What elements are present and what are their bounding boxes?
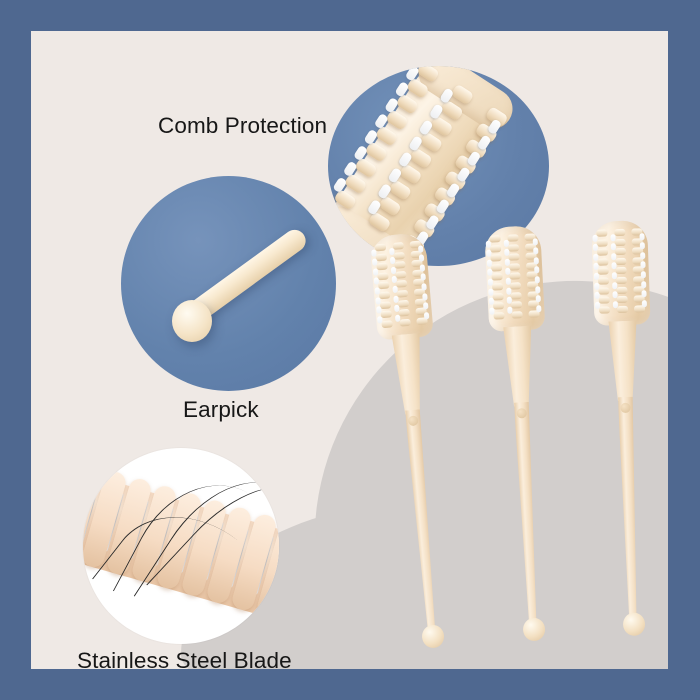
- stick-head-tooth: [508, 263, 519, 271]
- stick-head-tooth: [598, 268, 609, 275]
- stick-head-blade-slot: [389, 257, 395, 264]
- stick-head-blade-slot: [489, 298, 494, 305]
- stick-head-blade-slot: [374, 287, 380, 294]
- stick-head-blade-slot: [394, 314, 400, 321]
- comb-blade-slot: [343, 161, 358, 178]
- stick-head-tooth: [598, 287, 609, 294]
- stick-head-tooth: [399, 319, 411, 327]
- stick-head-tooth: [381, 320, 393, 328]
- stick-head-tooth: [396, 290, 408, 298]
- label-stainless-steel-blade: Stainless Steel Blade: [77, 648, 292, 669]
- stick-head-blade-slot: [391, 276, 397, 283]
- stick-head-blade-slot: [534, 257, 539, 264]
- callout-circle-earpick: [121, 176, 336, 391]
- stick-head-tooth: [614, 229, 625, 236]
- stick-head-blade-slot: [420, 274, 426, 281]
- stick-head-tooth: [616, 286, 627, 293]
- stick-head-blade-slot: [488, 288, 493, 295]
- stick-head-blade-slot: [640, 242, 645, 249]
- stick-head-blade-slot: [390, 267, 396, 274]
- stick-head-tooth: [510, 292, 521, 300]
- stick-head-blade-slot: [640, 252, 645, 259]
- stick-head-blade-slot: [642, 300, 647, 307]
- stick-head-tooth: [509, 282, 520, 290]
- stick-head-blade-slot: [612, 301, 617, 308]
- stick-head-tooth: [614, 238, 625, 245]
- stick-head-blade-slot: [420, 264, 426, 271]
- stick-head-tooth: [491, 273, 502, 281]
- stick-head-blade-slot: [507, 306, 512, 313]
- stick-head-blade-slot: [505, 268, 510, 275]
- stick-head-tooth: [493, 302, 504, 310]
- stick-head-blade-slot: [594, 273, 599, 280]
- stick-head-column: [410, 241, 428, 328]
- stick-head-tooth: [597, 249, 608, 256]
- stick-head-tooth: [397, 299, 409, 307]
- stick-head-tooth: [507, 244, 518, 252]
- stick-head-blade-slot: [593, 253, 598, 260]
- stick-head-column: [392, 242, 410, 329]
- stick-comb-head: [591, 220, 651, 326]
- stick-head-blade-slot: [611, 253, 616, 260]
- stick-head-tooth: [511, 311, 522, 319]
- stick-head-blade-slot: [641, 290, 646, 297]
- stick-head-blade-slot: [593, 244, 598, 251]
- stick-head-blade-slot: [394, 305, 400, 312]
- stick-head-blade-slot: [505, 278, 510, 285]
- stick-head-blade-slot: [533, 238, 538, 245]
- stick-head-tooth: [398, 309, 410, 317]
- stick-head-blade-slot: [641, 281, 646, 288]
- callout-circle-stainless-steel-blade: [83, 448, 279, 644]
- stick-head-blade-slot: [422, 293, 428, 300]
- stick-head-tooth: [615, 258, 626, 265]
- stick-head-column: [631, 228, 645, 314]
- stick-head-tooth: [509, 273, 520, 281]
- stick-head-tooth: [508, 253, 519, 261]
- stick-head-blade-slot: [533, 247, 538, 254]
- earpick-scoop-tip: [172, 300, 212, 342]
- stick-head-blade-slot: [611, 262, 616, 269]
- stick-head-tooth: [599, 297, 610, 304]
- stick-head-tooth: [492, 283, 503, 291]
- stick-head-tooth: [375, 244, 387, 252]
- stick-head-tooth: [615, 267, 626, 274]
- infographic-canvas: Comb Protection Earpick Stainless Steel …: [0, 0, 700, 700]
- stick-head-tooth: [393, 252, 405, 260]
- stick-head-blade-slot: [421, 283, 427, 290]
- stick-head-blade-slot: [375, 297, 381, 304]
- stick-head-blade-slot: [486, 250, 491, 257]
- stick-head-tooth: [615, 277, 626, 284]
- stick-head-blade-slot: [610, 234, 615, 241]
- stick-head-blade-slot: [640, 261, 645, 268]
- stick-head-blade-slot: [534, 266, 539, 273]
- stick-head-column: [596, 229, 610, 315]
- stick-head-tooth: [597, 258, 608, 265]
- stick-head-blade-slot: [376, 306, 382, 313]
- stick-head-blade-slot: [372, 258, 378, 265]
- stick-head-blade-slot: [536, 305, 541, 312]
- stick-comb-head: [484, 225, 545, 332]
- stick-head-blade-slot: [612, 282, 617, 289]
- stick-head-blade-slot: [504, 258, 509, 265]
- stick-head-tooth: [378, 282, 390, 290]
- stick-head-column: [614, 229, 628, 315]
- stick-head-blade-slot: [535, 286, 540, 293]
- stick-head-tooth: [616, 296, 627, 303]
- comb-blade-slot: [374, 113, 389, 130]
- stick-head-tooth: [490, 245, 501, 253]
- stick-head-tooth: [377, 272, 389, 280]
- stick-head-blade-slot: [419, 254, 425, 261]
- stick-head-tooth: [596, 229, 607, 236]
- stick-head-blade-slot: [612, 291, 617, 298]
- stick-head-blade-slot: [594, 282, 599, 289]
- stick-head-blade-slot: [639, 233, 644, 240]
- stick-head-blade-slot: [641, 271, 646, 278]
- comb-blade-slot: [332, 177, 347, 194]
- stick-head-blade-slot: [377, 316, 383, 323]
- stick-head-blade-slot: [489, 307, 494, 314]
- stick-head-tooth: [490, 254, 501, 262]
- stick-head-blade-slot: [418, 245, 424, 252]
- stick-head-tooth: [394, 261, 406, 269]
- stick-head-blade-slot: [487, 259, 492, 266]
- stick-head-blade-slot: [611, 272, 616, 279]
- stick-head-blade-slot: [389, 247, 395, 254]
- stick-head-tooth: [381, 311, 393, 319]
- stick-head-blade-slot: [486, 240, 491, 247]
- stick-head-column: [507, 234, 522, 320]
- stick-head-tooth: [489, 235, 500, 243]
- stick-head-tooth: [493, 312, 504, 320]
- stick-head-tooth: [507, 234, 518, 242]
- stick-head-blade-slot: [371, 249, 377, 256]
- stick-head-tooth: [395, 271, 407, 279]
- stick-head-blade-slot: [424, 312, 430, 319]
- stick-comb-head: [369, 232, 434, 340]
- stick-head-blade-slot: [592, 234, 597, 241]
- stick-head-blade-slot: [393, 295, 399, 302]
- stick-head-tooth: [614, 248, 625, 255]
- stick-head-tooth: [599, 306, 610, 313]
- stick-head-blade-slot: [506, 297, 511, 304]
- stick-head-blade-slot: [535, 276, 540, 283]
- stick-head-blade-slot: [373, 268, 379, 275]
- stick-head-tooth: [598, 277, 609, 284]
- stick-head-blade-slot: [595, 301, 600, 308]
- stick-head-column: [524, 233, 539, 319]
- stick-head-blade-slot: [594, 292, 599, 299]
- stick-head-tooth: [597, 239, 608, 246]
- inner-content-panel: Comb Protection Earpick Stainless Steel …: [31, 31, 668, 669]
- stick-head-blade-slot: [488, 279, 493, 286]
- stick-head-tooth: [392, 242, 404, 250]
- stick-head-blade-slot: [392, 286, 398, 293]
- stick-head-blade-slot: [423, 302, 429, 309]
- stick-head-blade-slot: [503, 239, 508, 246]
- label-comb-protection: Comb Protection: [158, 113, 327, 139]
- comb-blade-slot: [405, 66, 420, 82]
- stick-head-tooth: [395, 280, 407, 288]
- stick-head-tooth: [376, 253, 388, 261]
- stick-head-tooth: [376, 263, 388, 271]
- stick-head-tooth: [492, 293, 503, 301]
- stick-head-tooth: [510, 301, 521, 309]
- stick-head-column: [489, 235, 504, 321]
- stick-head-blade-slot: [536, 295, 541, 302]
- stick-head-tooth: [379, 291, 391, 299]
- stick-head-blade-slot: [610, 243, 615, 250]
- stick-head-blade-slot: [504, 249, 509, 256]
- label-earpick: Earpick: [183, 397, 259, 423]
- stick-head-tooth: [491, 264, 502, 272]
- stick-head-blade-slot: [506, 287, 511, 294]
- stick-head-tooth: [616, 306, 627, 313]
- stick-head-tooth: [380, 301, 392, 309]
